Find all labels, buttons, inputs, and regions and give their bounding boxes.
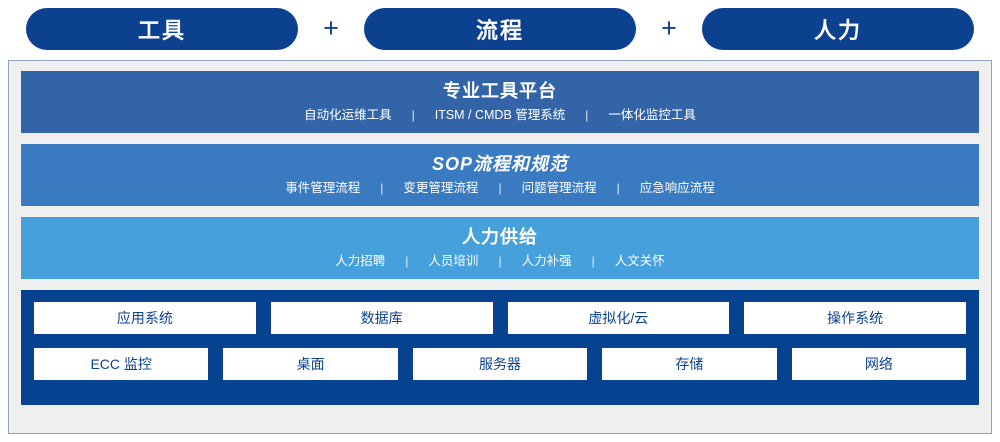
capability-panel: 专业工具平台 自动化运维工具 | ITSM / CMDB 管理系统 | 一体化监…: [8, 60, 992, 434]
managed-objects-row-2: ECC 监控 桌面 服务器 存储 网络: [32, 346, 968, 382]
object-box-storage[interactable]: 存储: [600, 346, 778, 382]
band-item-list: 事件管理流程 | 变更管理流程 | 问题管理流程 | 应急响应流程: [269, 179, 730, 198]
pill-process[interactable]: 流程: [364, 8, 636, 50]
band-item[interactable]: 一体化监控工具: [592, 106, 712, 125]
band-item[interactable]: 人力招聘: [319, 252, 401, 271]
band-title: 专业工具平台: [443, 79, 557, 103]
band-item[interactable]: 人文关怀: [599, 252, 681, 271]
band-item-divider: |: [408, 106, 419, 124]
band-item[interactable]: 事件管理流程: [269, 179, 376, 198]
band-sop-process-and-standards[interactable]: SOP流程和规范 事件管理流程 | 变更管理流程 | 问题管理流程 | 应急响应…: [21, 144, 979, 206]
band-item[interactable]: 人力补强: [506, 252, 588, 271]
band-item[interactable]: 自动化运维工具: [288, 106, 408, 125]
band-manpower-supply[interactable]: 人力供给 人力招聘 | 人员培训 | 人力补强 | 人文关怀: [21, 217, 979, 279]
object-box-network[interactable]: 网络: [790, 346, 968, 382]
band-item[interactable]: 应急响应流程: [624, 179, 731, 198]
band-item[interactable]: 人员培训: [412, 252, 494, 271]
pill-tools[interactable]: 工具: [26, 8, 298, 50]
plus-separator-2: +: [636, 15, 702, 42]
managed-objects-row-1: 应用系统 数据库 虚拟化/云 操作系统: [32, 300, 968, 336]
managed-objects-panel: 应用系统 数据库 虚拟化/云 操作系统 ECC 监控 桌面 服务器 存储 网络: [21, 290, 979, 405]
object-box-server[interactable]: 服务器: [411, 346, 589, 382]
band-item-divider: |: [376, 179, 387, 197]
band-item-list: 自动化运维工具 | ITSM / CMDB 管理系统 | 一体化监控工具: [288, 106, 712, 125]
band-item-divider: |: [401, 252, 412, 270]
top-pill-row: 工具 + 流程 + 人力: [0, 0, 1000, 57]
band-item-list: 人力招聘 | 人员培训 | 人力补强 | 人文关怀: [319, 252, 680, 271]
object-box-application-system[interactable]: 应用系统: [32, 300, 258, 336]
pill-manpower[interactable]: 人力: [702, 8, 974, 50]
band-professional-tool-platform[interactable]: 专业工具平台 自动化运维工具 | ITSM / CMDB 管理系统 | 一体化监…: [21, 71, 979, 133]
band-item-divider: |: [494, 179, 505, 197]
band-item-divider: |: [588, 252, 599, 270]
object-box-database[interactable]: 数据库: [269, 300, 495, 336]
band-title: SOP流程和规范: [432, 152, 568, 176]
band-item-divider: |: [613, 179, 624, 197]
object-box-virtualization-cloud[interactable]: 虚拟化/云: [506, 300, 732, 336]
object-box-ecc-monitoring[interactable]: ECC 监控: [32, 346, 210, 382]
object-box-operating-system[interactable]: 操作系统: [742, 300, 968, 336]
band-title: 人力供给: [462, 225, 538, 249]
band-item-divider: |: [581, 106, 592, 124]
plus-separator-1: +: [298, 15, 364, 42]
band-item[interactable]: 问题管理流程: [506, 179, 613, 198]
band-item-divider: |: [494, 252, 505, 270]
band-item[interactable]: ITSM / CMDB 管理系统: [419, 106, 582, 125]
band-item[interactable]: 变更管理流程: [387, 179, 494, 198]
object-box-desktop[interactable]: 桌面: [221, 346, 399, 382]
